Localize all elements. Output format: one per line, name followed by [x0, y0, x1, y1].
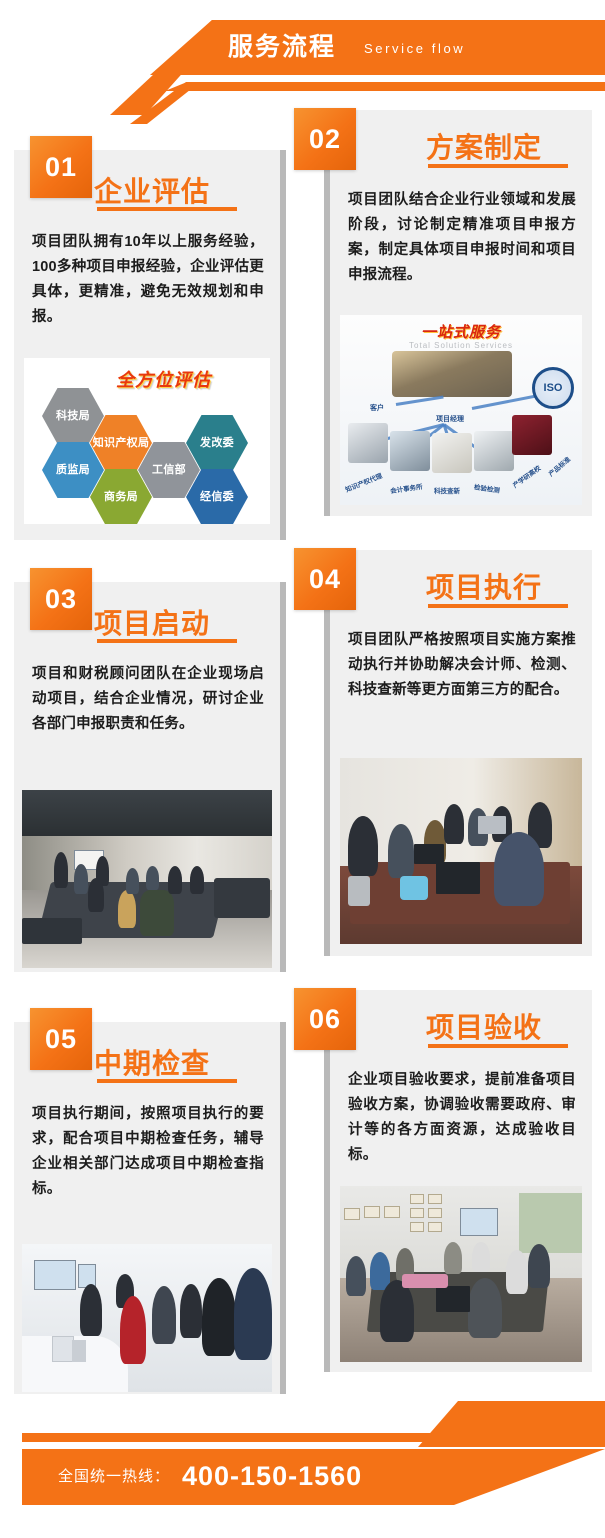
card-edge-shadow [280, 150, 286, 540]
card-body-01: 项目团队拥有10年以上服务经验，100多种项目申报经验，企业评估更具体，更精准，… [32, 230, 264, 330]
photo-conference-room-03 [22, 790, 272, 968]
card-edge-shadow [324, 550, 330, 956]
page-footer: 全国统一热线： 400-150-1560 [0, 1433, 605, 1538]
oss-thumb-2 [390, 431, 430, 471]
card-body-06: 企业项目验收要求，提前准备项目验收方案，协调验收需要政府、审计等的各方面资源，达… [348, 1068, 576, 1168]
card-title-rule-04 [428, 604, 568, 608]
card-body-04: 项目团队严格按照项目实施方案推动执行并协助解决会计师、检测、科技查新等更方面第三… [348, 628, 576, 703]
step-number-badge-01: 01 [30, 136, 92, 198]
step-card-03: 项目启动 项目和财税顾问团队在企业现场启动项目，结合企业情况，研讨企业各部门申报… [14, 582, 280, 972]
step-card-06: 项目验收 企业项目验收要求，提前准备项目验收方案，协调验收需要政府、审计等的各方… [330, 990, 592, 1372]
oss-iso-seal: ISO [532, 367, 574, 409]
hotline-label: 全国统一热线： [58, 1465, 170, 1489]
oss-thumb-1 [348, 423, 388, 463]
card-title-05: 中期检查 [94, 1042, 210, 1082]
card-body-05: 项目执行期间，按照项目执行的要求，配合项目中期检查任务，辅导企业相关部门达成项目… [32, 1102, 264, 1202]
oss-label-university: 产学研高校 [510, 462, 542, 489]
step-number-badge-06: 06 [294, 988, 356, 1050]
oss-label-testing: 检验检测 [473, 481, 500, 495]
card-title-04: 项目执行 [426, 566, 542, 606]
step-card-04: 项目执行 项目团队严格按照项目实施方案推动执行并协助解决会计师、检测、科技查新等… [330, 550, 592, 956]
header-accent-rule [165, 82, 605, 91]
card-edge-shadow [324, 110, 330, 516]
oss-subtitle: Total Solution Services [340, 341, 582, 350]
photo-working-meeting-04 [340, 758, 582, 944]
oss-thumb-3 [432, 433, 472, 473]
card-edge-shadow [280, 1022, 286, 1394]
oss-label-ip: 知识产权代理 [344, 470, 384, 494]
oss-label-standard: 产品标准 [546, 454, 572, 478]
card-title-rule-02 [428, 164, 568, 168]
one-stop-service-figure: 一站式服务 Total Solution Services 客户 项目经理 IS… [340, 315, 582, 505]
photo-acceptance-meeting-06 [340, 1186, 582, 1362]
card-title-rule-06 [428, 1044, 568, 1048]
footer-accent-rule [22, 1433, 605, 1442]
card-body-03: 项目和财税顾问团队在企业现场启动项目，结合企业情况，研讨企业各部门申报职责和任务… [32, 662, 264, 737]
oss-thumb-4 [474, 431, 514, 471]
hexagon-chart-01: 全方位评估 科技局 知识产权局 质监局 商务局 工信部 发改委 经信委 [24, 358, 270, 524]
oss-node-customer: 客户 [370, 403, 384, 413]
step-number-badge-04: 04 [294, 548, 356, 610]
step-number-badge-05: 05 [30, 1008, 92, 1070]
step-number-badge-02: 02 [294, 108, 356, 170]
card-title-rule-03 [97, 639, 237, 643]
oss-arrow-1 [396, 396, 444, 406]
hexagon-chart-title: 全方位评估 [116, 366, 211, 392]
oss-title: 一站式服务 [340, 321, 582, 342]
hotline-number[interactable]: 400-150-1560 [182, 1459, 362, 1493]
card-title-06: 项目验收 [426, 1006, 542, 1046]
page-title: 服务流程 [228, 27, 336, 67]
oss-hero-photo [392, 351, 512, 397]
oss-node-manager: 项目经理 [436, 414, 464, 424]
oss-thumb-5 [512, 415, 552, 455]
step-card-05: 中期检查 项目执行期间，按照项目执行的要求，配合项目中期检查任务，辅导企业相关部… [14, 1022, 280, 1394]
oss-label-accounting: 会计事务所 [389, 481, 423, 495]
card-title-01: 企业评估 [94, 170, 210, 210]
card-body-02: 项目团队结合企业行业领域和发展阶段，讨论制定精准项目申报方案，制定具体项目申报时… [348, 188, 576, 288]
photo-showroom-visit-05 [22, 1244, 272, 1392]
card-edge-shadow [280, 582, 286, 972]
step-card-02: 方案制定 项目团队结合企业行业领域和发展阶段，讨论制定精准项目申报方案，制定具体… [330, 110, 592, 516]
page-subtitle: Service flow [364, 38, 465, 60]
step-number-badge-03: 03 [30, 568, 92, 630]
card-title-03: 项目启动 [94, 602, 210, 642]
step-card-01: 企业评估 项目团队拥有10年以上服务经验，100多种项目申报经验，企业评估更具体… [14, 150, 280, 540]
page-header: 服务流程 Service flow [0, 0, 605, 105]
card-title-02: 方案制定 [426, 126, 542, 166]
card-title-rule-01 [97, 207, 237, 211]
card-title-rule-05 [97, 1079, 237, 1083]
oss-label-novelty: 科技查新 [434, 485, 460, 495]
